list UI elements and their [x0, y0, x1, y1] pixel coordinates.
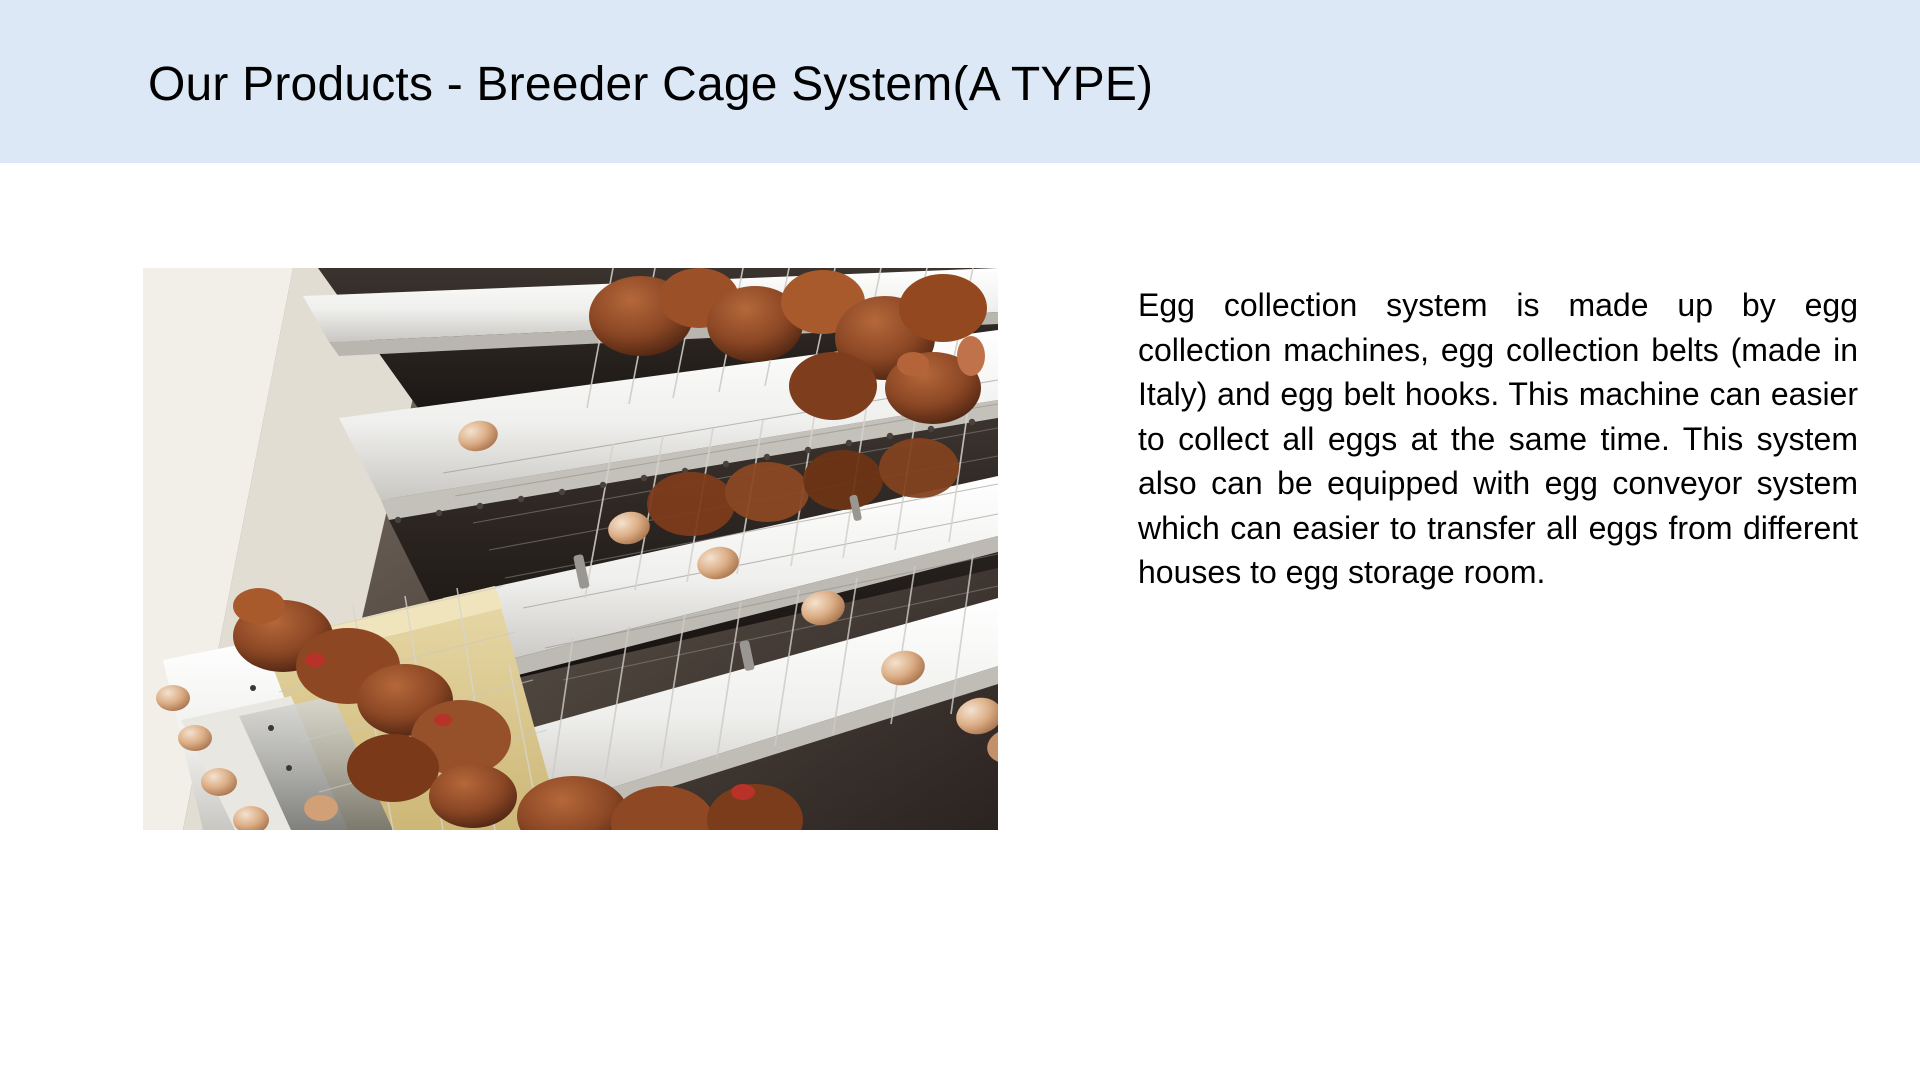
- title-banner: Our Products - Breeder Cage System(A TYP…: [0, 0, 1920, 163]
- page-title: Our Products - Breeder Cage System(A TYP…: [148, 56, 1153, 114]
- description-paragraph: Egg collection system is made up by egg …: [1138, 283, 1858, 595]
- product-photo: [143, 268, 998, 830]
- slide-canvas: Our Products - Breeder Cage System(A TYP…: [0, 0, 1920, 1079]
- poultry-cage-photo-illustration: [143, 268, 998, 830]
